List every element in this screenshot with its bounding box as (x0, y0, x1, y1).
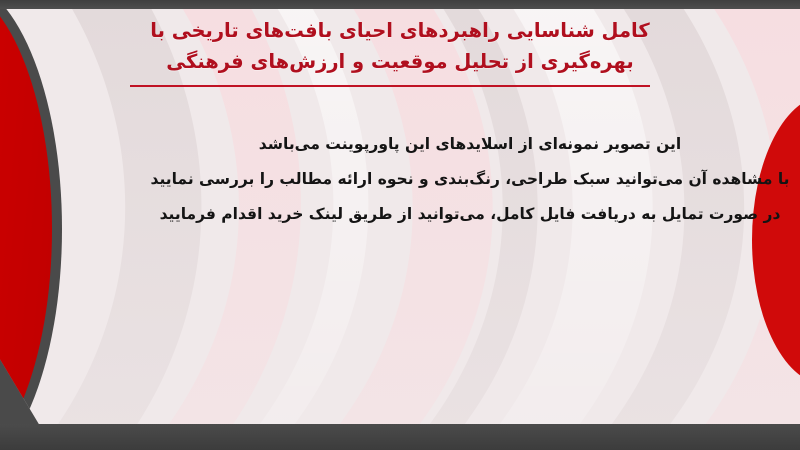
title-underline-rule (130, 85, 650, 87)
slide-content-panel: کامل شناسایی راهبردهای احیای بافت‌های تا… (0, 9, 800, 426)
slide-frame-top-bar (0, 0, 800, 9)
slide-title: کامل شناسایی راهبردهای احیای بافت‌های تا… (0, 15, 800, 77)
presentation-slide: کامل شناسایی راهبردهای احیای بافت‌های تا… (0, 0, 800, 450)
slide-title-line-2: بهره‌گیری از تحلیل موقعیت و ارزش‌های فره… (0, 46, 800, 77)
body-line-3: در صورت تمایل به دریافت فایل کامل، می‌تو… (140, 197, 800, 232)
body-line-1: این تصویر نمونه‌ای از اسلایدهای این پاور… (140, 127, 800, 162)
slide-title-line-1: کامل شناسایی راهبردهای احیای بافت‌های تا… (0, 15, 800, 46)
body-line-2: با مشاهده آن می‌توانید سبک طراحی، رنگ‌بن… (140, 162, 800, 197)
slide-body-text: این تصویر نمونه‌ای از اسلایدهای این پاور… (80, 127, 800, 232)
slide-frame-bottom-bar (0, 424, 800, 450)
